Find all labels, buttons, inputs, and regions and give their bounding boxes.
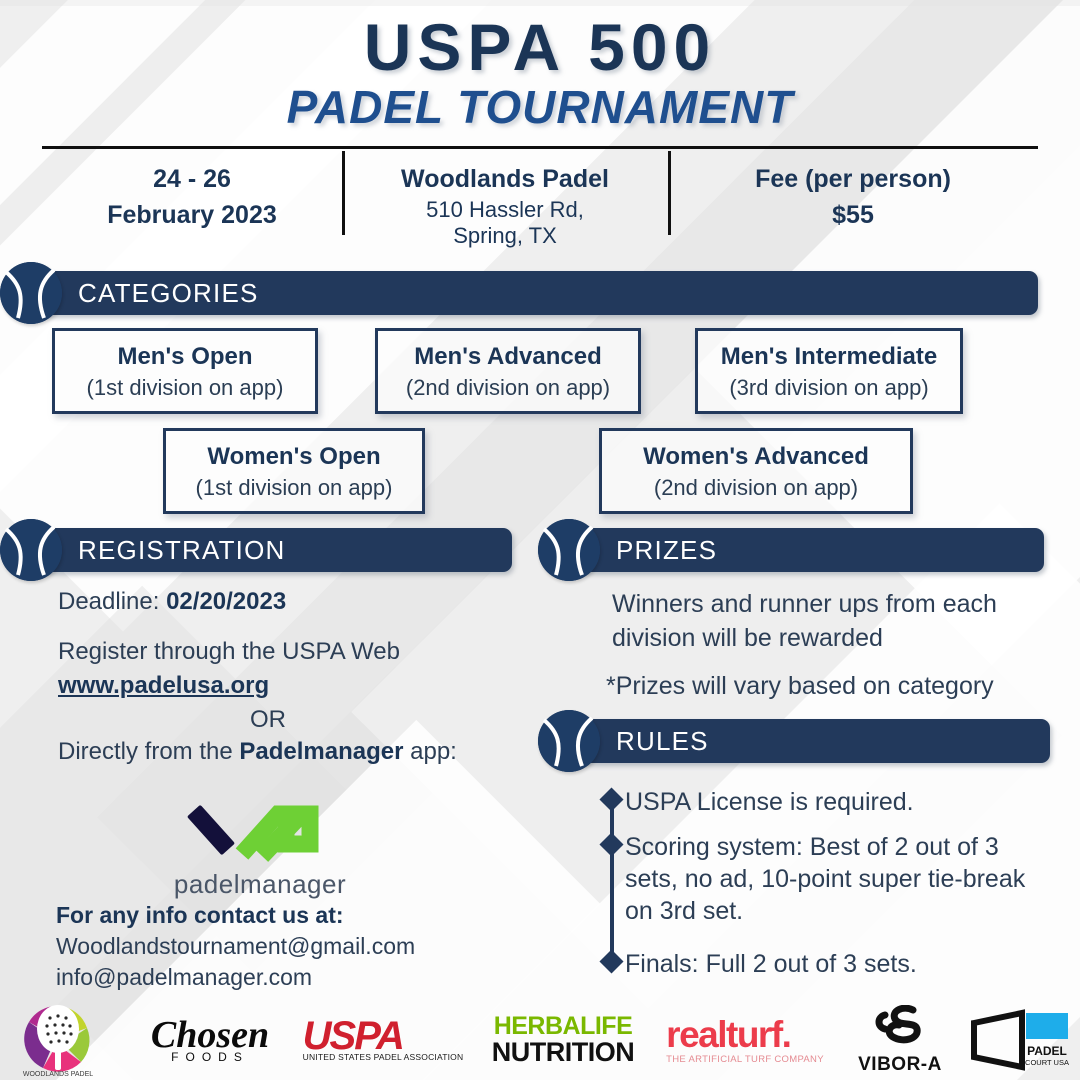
contact-email-1[interactable]: Woodlandstournament@gmail.com (56, 933, 526, 960)
category-division: (2nd division on app) (378, 375, 638, 401)
registration-bar: REGISTRATION (32, 528, 512, 572)
info-bar: 24 - 26 February 2023 Woodlands Padel 51… (42, 149, 1038, 241)
sponsor-sublabel: COURT USA (1025, 1058, 1069, 1067)
info-venue: Woodlands Padel 510 Hassler Rd, Spring, … (342, 149, 668, 241)
category-card-mens-intermediate[interactable]: Men's Intermediate (3rd division on app) (695, 328, 963, 414)
sponsor-label: PADEL (1027, 1044, 1067, 1058)
padel-ball-icon (0, 519, 62, 581)
vibora-snake-icon (863, 1005, 937, 1049)
padel-ball-icon (538, 519, 600, 581)
rules-bullet-diamond-icon (599, 832, 623, 856)
sponsor-sublabel: THE ARTIFICIAL TURF COMPANY (666, 1055, 824, 1065)
page-title: USPA 500 (0, 14, 1080, 81)
sponsor-logo-herbalife: HERBALIFE NUTRITION (478, 1000, 648, 1080)
sponsor-sublabel: NUTRITION (492, 1039, 634, 1066)
registration-app-name: Padelmanager (239, 738, 403, 765)
rule-item: Scoring system: Best of 2 out of 3 sets,… (625, 831, 1050, 927)
registration-deadline-value: 02/20/2023 (166, 588, 286, 615)
contact-heading: For any info contact us at: (56, 902, 526, 929)
rules-timeline-line (610, 800, 614, 970)
sponsor-logo-chosen-foods: Chosen FOODS (130, 1000, 290, 1080)
rules-bullet-diamond-icon (599, 949, 623, 973)
sponsor-bar: WOODLANDS PADEL Chosen FOODS USPA UNITED… (0, 1000, 1080, 1080)
info-date-days: 24 - 26 (42, 161, 342, 197)
rules-heading: RULES (570, 719, 1050, 763)
category-card-womens-open[interactable]: Women's Open (1st division on app) (163, 428, 425, 514)
registration-deadline-row: Deadline: 02/20/2023 (58, 588, 528, 616)
padel-ball-icon (0, 262, 62, 324)
category-card-mens-open[interactable]: Men's Open (1st division on app) (52, 328, 318, 414)
info-venue-name: Woodlands Padel (342, 161, 668, 197)
rules-bar: RULES (570, 719, 1050, 763)
categories-heading: CATEGORIES (32, 271, 1038, 315)
rule-item: USPA License is required. (625, 786, 1045, 818)
sponsor-label: HERBALIFE (492, 1014, 634, 1039)
prizes-body: Winners and runner ups from each divisio… (612, 588, 1062, 701)
sponsor-label: WOODLANDS PADEL (23, 1071, 93, 1078)
registration-app-row: Directly from the Padelmanager app: (58, 738, 528, 766)
registration-or: OR (58, 706, 478, 734)
category-name: Men's Open (55, 343, 315, 371)
sponsor-sublabel: UNITED STATES PADEL ASSOCIATION (303, 1054, 464, 1062)
registration-web-text: Register through the USPA Web (58, 638, 528, 666)
category-name: Men's Advanced (378, 343, 638, 371)
registration-app-suffix: app: (403, 738, 456, 765)
sponsor-label: VIBOR-A (858, 1054, 942, 1076)
padelmanager-mark-icon (150, 792, 370, 864)
category-division: (1st division on app) (166, 475, 422, 501)
info-fee-amount: $55 (668, 197, 1038, 233)
info-date: 24 - 26 February 2023 (42, 149, 342, 241)
registration-body: Deadline: 02/20/2023 Register through th… (58, 588, 528, 766)
info-fee-label: Fee (per person) (668, 161, 1038, 197)
prizes-note: *Prizes will vary based on category (606, 672, 1062, 701)
padel-court-usa-icon: PADEL COURT USA (968, 1009, 1072, 1071)
registration-heading: REGISTRATION (32, 528, 512, 572)
prizes-heading: PRIZES (570, 528, 1044, 572)
rules-bullet-diamond-icon (599, 787, 623, 811)
category-card-womens-advanced[interactable]: Women's Advanced (2nd division on app) (599, 428, 913, 514)
sponsor-logo-woodlands-padel: WOODLANDS PADEL (8, 1000, 108, 1080)
prizes-bar: PRIZES (570, 528, 1044, 572)
padelmanager-wordmark: padelmanager (150, 869, 370, 900)
padel-ball-icon (538, 710, 600, 772)
category-division: (3rd division on app) (698, 375, 960, 401)
sponsor-logo-padel-court-usa: PADEL COURT USA (965, 1000, 1075, 1080)
sponsor-logo-uspa: USPA UNITED STATES PADEL ASSOCIATION (288, 1000, 478, 1080)
category-name: Women's Open (166, 443, 422, 471)
categories-bar: CATEGORIES (32, 271, 1038, 315)
flyer-title-block: USPA 500 PADEL TOURNAMENT (0, 0, 1080, 132)
sponsor-label: realturf. (666, 1014, 790, 1055)
sponsor-logo-vibor-a: VIBOR-A (845, 1000, 955, 1080)
prizes-line-2: division will be rewarded (612, 622, 1062, 656)
rule-item: Finals: Full 2 out of 3 sets. (625, 948, 1045, 980)
category-division: (2nd division on app) (602, 475, 910, 501)
registration-app-prefix: Directly from the (58, 738, 239, 765)
contact-block: For any info contact us at: Woodlandstou… (56, 902, 526, 991)
page-subtitle: PADEL TOURNAMENT (0, 83, 1080, 131)
category-name: Women's Advanced (602, 443, 910, 471)
registration-website-link[interactable]: www.padelusa.org (58, 672, 269, 699)
info-venue-address-line2: Spring, TX (342, 223, 668, 249)
info-venue-address-line1: 510 Hassler Rd, (342, 197, 668, 223)
prizes-line-1: Winners and runner ups from each (612, 588, 1062, 622)
sponsor-logo-realturf: realturf. THE ARTIFICIAL TURF COMPANY (650, 1000, 840, 1080)
padelmanager-logo: padelmanager (150, 792, 370, 900)
category-card-mens-advanced[interactable]: Men's Advanced (2nd division on app) (375, 328, 641, 414)
info-fee: Fee (per person) $55 (668, 149, 1038, 241)
registration-deadline-label: Deadline: (58, 588, 166, 615)
contact-email-2[interactable]: info@padelmanager.com (56, 964, 526, 991)
woodlands-padel-icon: WOODLANDS PADEL (17, 1002, 99, 1078)
registration-website-row: www.padelusa.org (58, 672, 528, 700)
category-name: Men's Intermediate (698, 343, 960, 371)
info-date-month-year: February 2023 (42, 197, 342, 233)
category-division: (1st division on app) (55, 375, 315, 401)
